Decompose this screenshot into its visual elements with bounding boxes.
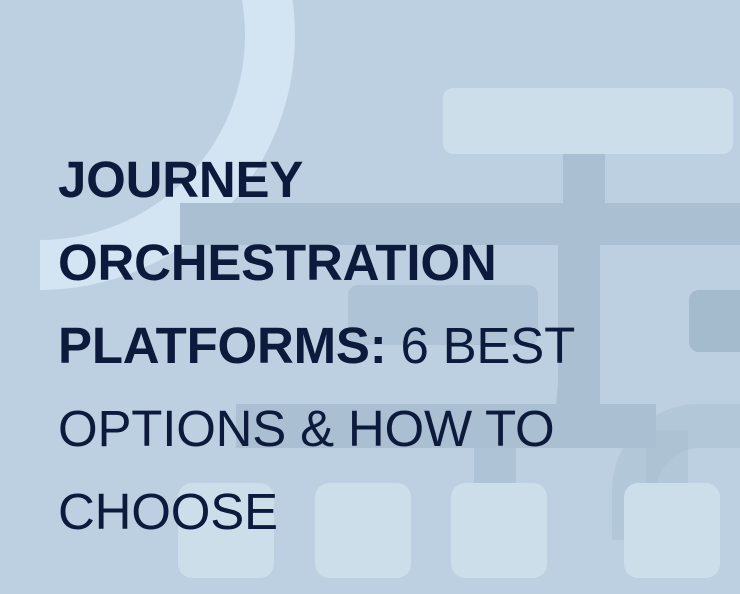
page-title: JOURNEY ORCHESTRATION PLATFORMS: 6 BEST … xyxy=(58,138,658,553)
headline-line-1-bold: JOURNEY xyxy=(58,151,303,208)
headline-line-2-bold: ORCHESTRATION xyxy=(58,234,496,291)
headline-line-5: CHOOSE xyxy=(58,470,658,553)
headline-line-3-regular: 6 BEST xyxy=(387,317,576,374)
headline-line-2: ORCHESTRATION xyxy=(58,221,658,304)
hero-banner-card: JOURNEY ORCHESTRATION PLATFORMS: 6 BEST … xyxy=(0,0,740,594)
headline-line-3-bold: PLATFORMS: xyxy=(58,317,387,374)
headline-line-4: OPTIONS & HOW TO xyxy=(58,387,658,470)
headline-line-1: JOURNEY xyxy=(58,138,658,221)
headline-line-4-regular: OPTIONS & HOW TO xyxy=(58,400,554,457)
headline-line-5-regular: CHOOSE xyxy=(58,483,278,540)
node-card-mid-right xyxy=(689,290,740,352)
headline-line-3: PLATFORMS: 6 BEST xyxy=(58,304,658,387)
